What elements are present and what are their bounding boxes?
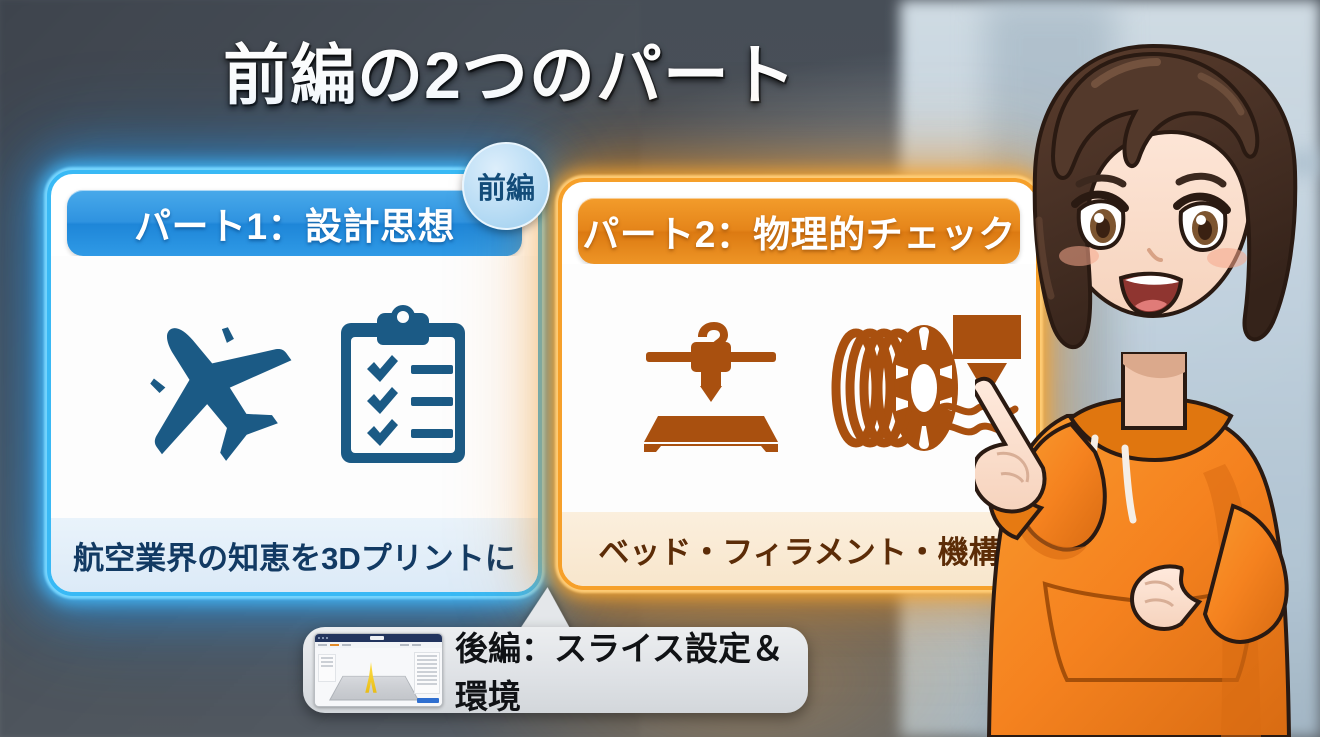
clipboard-checklist-icon [333,305,473,470]
callout-text: 後編：スライス設定＆環境 [455,622,808,718]
card-part1[interactable]: パート1：設計思想 [47,170,542,596]
slide-canvas: 前編の2つのパート パート1：設計思想 [0,0,1320,737]
presenter-character [975,24,1320,737]
card-part1-header: パート1：設計思想 [67,190,522,256]
page-title: 前編の2つのパート [0,22,1020,118]
slicer-app-thumbnail [314,633,443,707]
status-badge: 前編 [462,142,550,230]
card-part2-header: パート2：物理的チェック [578,198,1020,264]
card-part2-footer: ベッド・フィラメント・機構 [562,512,1036,586]
card-part1-icons [51,256,538,518]
printer-bed-extruder-icon [636,318,786,458]
airplane-icon [117,312,307,462]
card-part1-footer: 航空業界の知恵を3Dプリントに [51,518,538,592]
callout-bubble[interactable]: 後編：スライス設定＆環境 [303,627,808,713]
